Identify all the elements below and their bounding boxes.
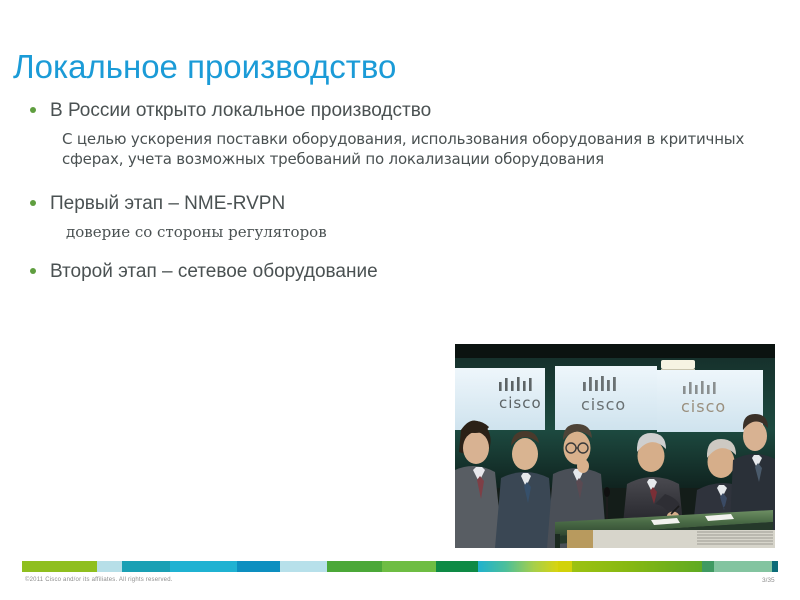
bullet-item-1-label: В России открыто локальное производство bbox=[50, 98, 782, 124]
slide-root: Локальное производство В России открыто … bbox=[0, 0, 800, 600]
colorbar-segment bbox=[97, 561, 122, 572]
colorbar-segment bbox=[772, 561, 778, 572]
colorbar-segment bbox=[122, 561, 170, 572]
signing-ceremony-photo: cisco cisco bbox=[455, 344, 775, 548]
svg-text:cisco: cisco bbox=[499, 394, 542, 412]
colorbar-segment bbox=[558, 561, 572, 572]
bullet-item-3-label: Второй этап – сетевое оборудование bbox=[50, 259, 782, 285]
colorbar-segment bbox=[436, 561, 478, 572]
colorbar-segment bbox=[382, 561, 436, 572]
footer-page-number: 3/35 bbox=[762, 576, 775, 585]
footer-colorbar bbox=[22, 561, 778, 572]
spacer-2 bbox=[22, 243, 782, 259]
svg-text:cisco: cisco bbox=[581, 395, 626, 414]
colorbar-segment bbox=[327, 561, 382, 572]
colorbar-segment bbox=[170, 561, 237, 572]
svg-text:cisco: cisco bbox=[681, 397, 726, 416]
bullet-item-2-subtext: доверие со стороны регуляторов bbox=[22, 221, 782, 243]
slide-body: В России открыто локальное производство … bbox=[22, 98, 782, 287]
bullet-dot-icon bbox=[30, 107, 36, 113]
page-title: Локальное производство bbox=[13, 47, 773, 87]
colorbar-segment bbox=[714, 561, 772, 572]
bullet-item-1: В России открыто локальное производство bbox=[22, 98, 782, 124]
colorbar-segment bbox=[478, 561, 558, 572]
colorbar-segment bbox=[237, 561, 280, 572]
spacer-1 bbox=[22, 169, 782, 191]
bullet-item-2: Первый этап – NME-RVPN bbox=[22, 191, 782, 217]
colorbar-segment bbox=[22, 561, 97, 572]
bullet-item-2-label: Первый этап – NME-RVPN bbox=[50, 191, 782, 217]
bullet-item-1-subtext: С целью ускорения поставки оборудования,… bbox=[22, 130, 800, 169]
bullet-dot-icon bbox=[30, 268, 36, 274]
bullet-item-3: Второй этап – сетевое оборудование bbox=[22, 259, 782, 285]
colorbar-segment bbox=[280, 561, 327, 572]
colorbar-segment bbox=[702, 561, 714, 572]
footer-copyright: ©2011 Cisco and/or its affiliates. All r… bbox=[25, 576, 173, 585]
colorbar-segment bbox=[572, 561, 702, 572]
bullet-dot-icon bbox=[30, 200, 36, 206]
